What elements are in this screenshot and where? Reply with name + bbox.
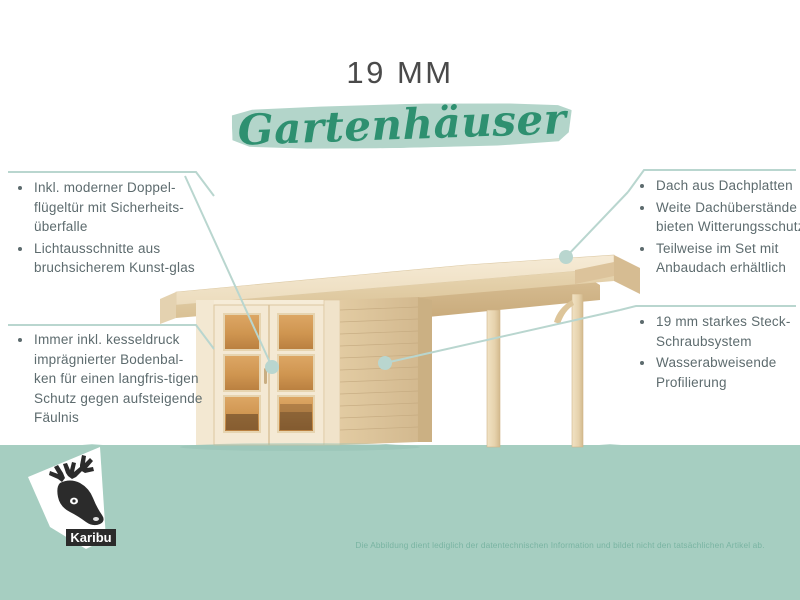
dot-wall (378, 356, 392, 370)
callout-right-top: Dach aus Dachplatten Weite Dachüberständ… (636, 176, 800, 280)
callout-item: Immer inkl. kesseldruck imprägnierter Bo… (14, 330, 204, 428)
callout-item: Teilweise im Set mit Anbaudach erhältlic… (636, 239, 800, 278)
dot-door (265, 360, 279, 374)
disclaimer-text: Die Abbildung dient lediglich der datent… (330, 540, 790, 550)
logo-wordmark: Karibu (70, 530, 111, 545)
callout-item: Lichtausschnitte aus bruchsicherem Kunst… (14, 239, 204, 278)
callout-item: Wasserabweisende Profilierung (636, 353, 800, 392)
callout-right-bottom: 19 mm starkes Steck-Schraubsystem Wasser… (636, 312, 800, 394)
leader-line-wall (385, 310, 620, 363)
reindeer-muzzle-highlight (93, 517, 99, 521)
reindeer-pupil (72, 499, 75, 502)
callout-left-top: Inkl. moderner Doppel-flügeltür mit Sich… (14, 178, 204, 280)
infographic-canvas: 19 MM Gartenhäuser (0, 0, 800, 600)
callout-item: Inkl. moderner Doppel-flügeltür mit Sich… (14, 178, 204, 237)
callout-item: Dach aus Dachplatten (636, 176, 800, 196)
callout-item: 19 mm starkes Steck-Schraubsystem (636, 312, 800, 351)
leader-line-roof (566, 192, 628, 257)
karibu-logo: Karibu (22, 443, 124, 555)
callout-left-bottom: Immer inkl. kesseldruck imprägnierter Bo… (14, 330, 204, 430)
callout-item: Weite Dachüberstände bieten Witterungssc… (636, 198, 800, 237)
dot-roof (559, 250, 573, 264)
callout-frame-right-bottom (620, 306, 796, 310)
